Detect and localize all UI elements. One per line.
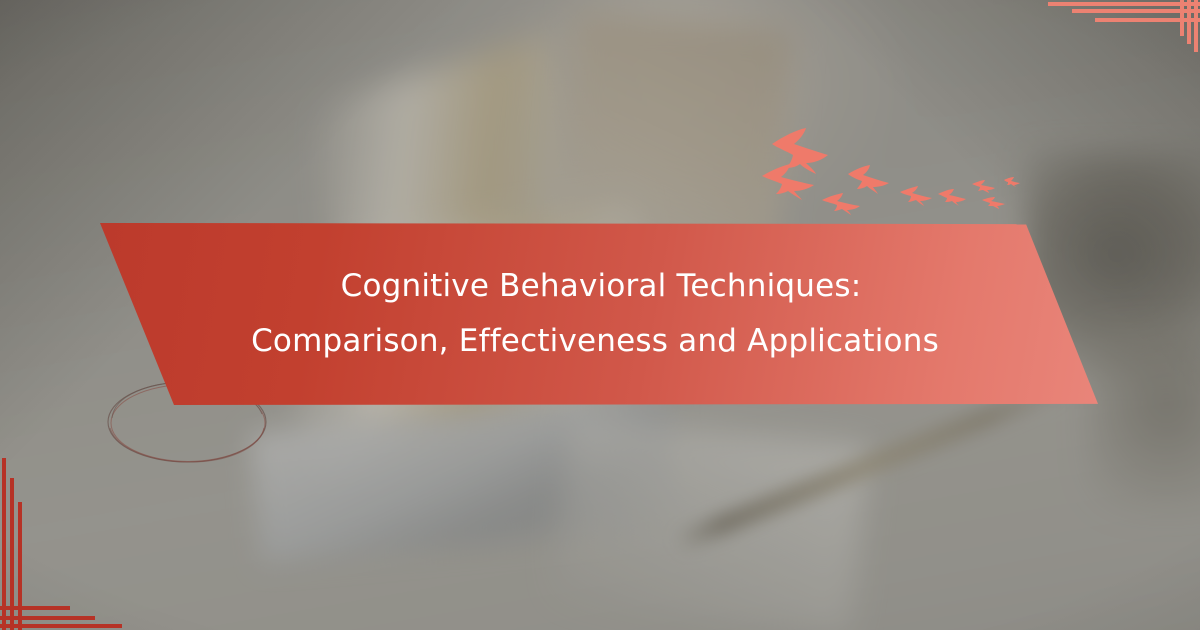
- corner-line-horizontal: [0, 616, 95, 620]
- title-card-canvas: Cognitive Behavioral Techniques: Compari…: [0, 0, 1200, 630]
- corner-line-vertical: [18, 502, 22, 630]
- corner-line-horizontal: [1095, 18, 1200, 22]
- title-banner: Cognitive Behavioral Techniques: Compari…: [98, 223, 1098, 405]
- page-title-line-1: Cognitive Behavioral Techniques:: [341, 271, 862, 302]
- corner-decoration-top-right: [1040, 0, 1200, 60]
- corner-line-vertical: [2, 458, 6, 630]
- page-title-line-2: Comparison, Effectiveness and Applicatio…: [251, 326, 939, 357]
- corner-line-horizontal: [1048, 2, 1200, 6]
- corner-line-vertical: [1187, 0, 1191, 44]
- corner-line-vertical: [10, 478, 14, 630]
- flying-birds-icon: [760, 118, 1020, 228]
- corner-line-vertical: [1194, 0, 1198, 52]
- corner-line-vertical: [1180, 0, 1184, 36]
